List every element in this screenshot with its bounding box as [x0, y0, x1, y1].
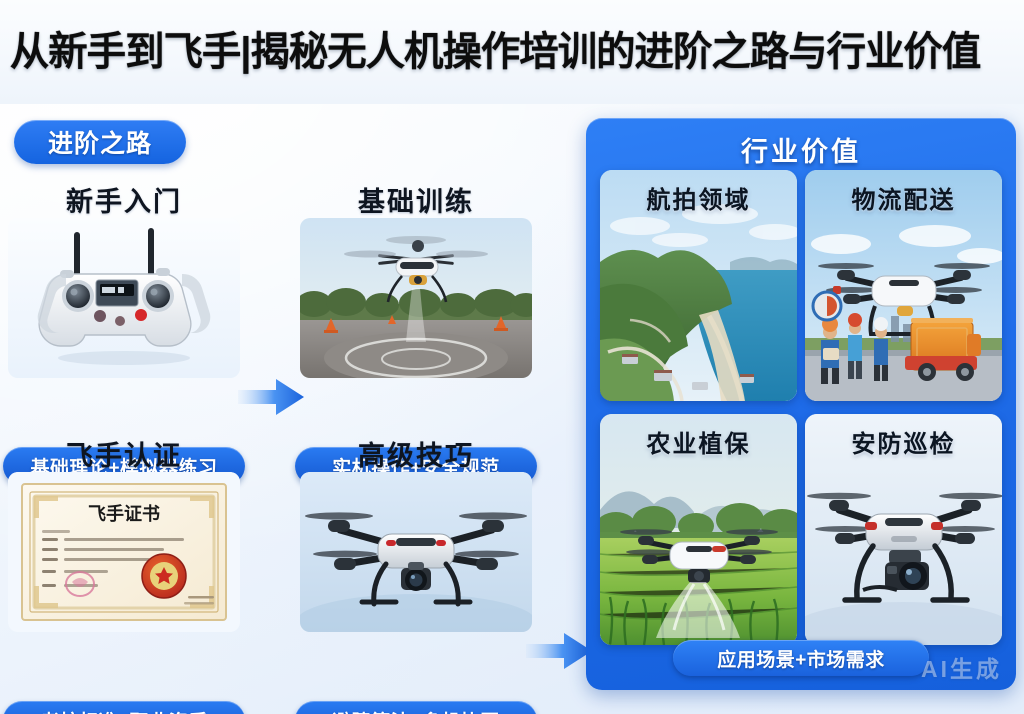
drone-hovering-training-pad-photo — [300, 218, 532, 378]
step-image-training-pad — [300, 218, 532, 378]
progression-path-badge: 进阶之路 — [14, 120, 186, 164]
progression-path-badge-label: 进阶之路 — [48, 124, 152, 160]
infographic-poster: 从新手到飞手|揭秘无人机操作培训的进阶之路与行业价值 进阶之路 新手入门 — [0, 0, 1024, 714]
value-card-label: 物流配送 — [805, 180, 1002, 215]
value-card-agriculture[interactable]: 农业植保 — [600, 414, 797, 645]
industry-value-caption: 应用场景+市场需求 — [673, 640, 929, 676]
step-image-certificate: 飞手证书 — [8, 472, 240, 632]
value-card-aerial-photography[interactable]: 航拍领域 — [600, 170, 797, 401]
value-card-security-patrol[interactable]: 安防巡检 — [805, 414, 1002, 645]
svg-text:飞手证书: 飞手证书 — [88, 503, 160, 525]
industry-value-section: 行业价值 — [586, 118, 1016, 690]
value-card-label: 航拍领域 — [600, 180, 797, 215]
arrow-right-icon — [236, 374, 306, 420]
pilot-certificate-photo: 飞手证书 — [8, 472, 240, 632]
step-image-advanced-drone — [300, 472, 532, 632]
step-title: 新手入门 — [8, 180, 240, 219]
value-card-label: 安防巡检 — [805, 424, 1002, 459]
title-bar: 从新手到飞手|揭秘无人机操作培训的进阶之路与行业价值 — [0, 0, 1024, 104]
step-caption: 避障算法+多机协同 — [295, 701, 537, 714]
industry-value-title: 行业价值 — [586, 130, 1016, 169]
ai-generated-watermark: AI生成 — [921, 650, 1002, 684]
step-card-pilot-certification[interactable]: 飞手认证 — [8, 434, 240, 714]
step-title: 高级技巧 — [300, 434, 532, 473]
value-card-label: 农业植保 — [600, 424, 797, 459]
step-card-advanced-skills[interactable]: 高级技巧 — [300, 434, 532, 714]
step-title: 飞手认证 — [8, 434, 240, 473]
arrow-right-icon — [524, 628, 594, 674]
progression-path-section: 进阶之路 新手入门 — [0, 104, 566, 714]
step-image-remote-controller — [8, 218, 240, 378]
drone-remote-controller-photo — [8, 218, 240, 378]
page-title: 从新手到飞手|揭秘无人机操作培训的进阶之路与行业价值 — [0, 32, 986, 72]
advanced-drone-closeup-photo — [300, 472, 532, 632]
step-caption: 考核标准+职业资质 — [3, 701, 245, 714]
value-card-logistics-delivery[interactable]: 物流配送 — [805, 170, 1002, 401]
step-title: 基础训练 — [300, 180, 532, 219]
